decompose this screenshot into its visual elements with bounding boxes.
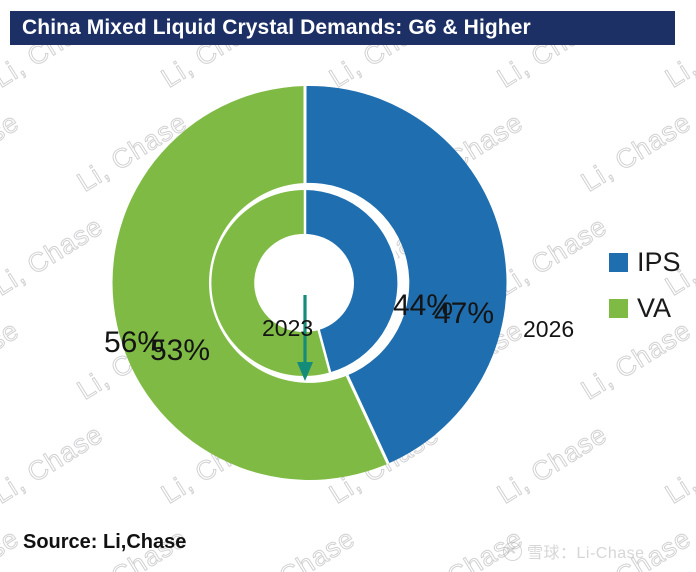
legend-swatch-va	[609, 299, 628, 318]
label-outer-va-percent: 53%	[150, 334, 210, 368]
site-watermark-text: 雪球：Li-Chase	[527, 539, 645, 563]
legend-item-ips[interactable]: IPS	[609, 239, 681, 285]
watermark-text: Li, Chase	[0, 523, 25, 572]
watermark-text: Li, Chase	[660, 419, 696, 511]
label-year-2026: 2026	[523, 316, 574, 343]
label-year-2023: 2023	[262, 315, 313, 342]
legend-label-ips: IPS	[637, 249, 681, 276]
legend-label-va: VA	[637, 295, 671, 322]
site-watermark: 雪球：Li-Chase	[503, 539, 645, 563]
chart-page: Li, ChaseLi, ChaseLi, ChaseLi, ChaseLi, …	[0, 0, 696, 572]
donut-chart-svg	[0, 50, 600, 520]
legend-swatch-ips	[609, 253, 628, 272]
xueqiu-logo-icon	[503, 542, 522, 561]
donut-chart: 44% 47% 56% 53% 2026 2023	[0, 50, 600, 520]
chart-title-bar: China Mixed Liquid Crystal Demands: G6 &…	[10, 11, 675, 45]
legend-item-va[interactable]: VA	[609, 285, 681, 331]
watermark-text: Li, Chase	[240, 523, 361, 572]
label-outer-ips-percent: 47%	[434, 297, 494, 331]
source-note: Source: Li,Chase	[23, 531, 186, 554]
page-title: China Mixed Liquid Crystal Demands: G6 &…	[10, 16, 531, 40]
chart-legend: IPS VA	[609, 239, 681, 331]
